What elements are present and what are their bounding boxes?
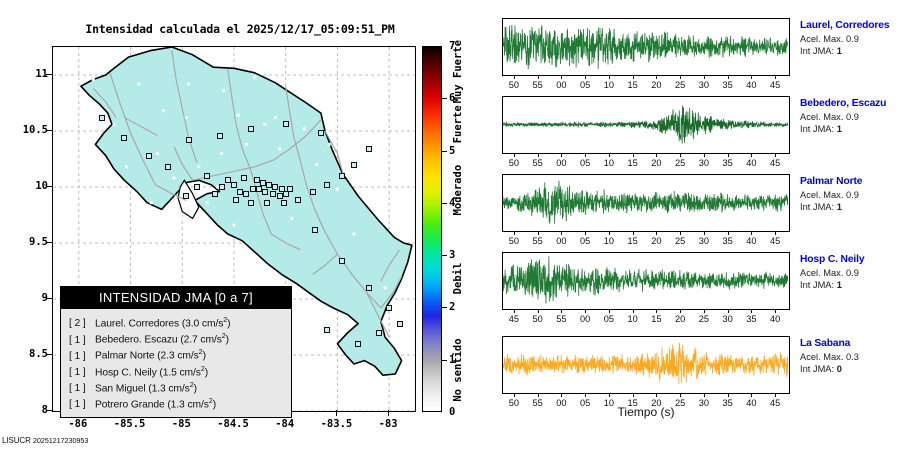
waveform-peak-acceleration: Acel. Max. 0.9: [800, 268, 910, 278]
station-marker[interactable]: [260, 180, 266, 186]
accel-value: 0.9: [846, 190, 859, 200]
station-marker[interactable]: [351, 162, 357, 168]
waveform-axis-tick: [633, 309, 634, 313]
waveform-axis-tick-label: 35: [717, 236, 739, 246]
waveform-axis-tick: [633, 231, 634, 235]
legend-row-station: Potrero Grande: [95, 399, 167, 410]
waveform-axis-tick: [656, 231, 657, 235]
station-marker[interactable]: [146, 153, 152, 159]
waveform-panel[interactable]: [502, 252, 790, 310]
waveform-jma-intensity: Int JMA: 1: [800, 202, 910, 212]
legend-row-station: Laurel. Corredores: [95, 318, 182, 329]
waveform-axis-tick-label: 20: [645, 158, 667, 168]
waveform-axis-tick-label: 40: [740, 80, 762, 90]
waveform-axis-tick: [609, 153, 610, 157]
waveform-axis-tick-label: 10: [598, 80, 620, 90]
waveform-axis-tick: [633, 75, 634, 79]
legend-row-intensity: [ 1 ]: [69, 367, 95, 378]
waveform-axis-tick-label: 55: [527, 80, 549, 90]
map-title: Intensidad calculada el 2025/12/17_05:09…: [60, 22, 420, 36]
jma-value: 1: [837, 124, 842, 134]
waveform-axis-tick: [704, 231, 705, 235]
waveform-axis-tick-label: 35: [717, 80, 739, 90]
waveform-axis-tick-label: 30: [693, 398, 715, 408]
legend-row-accel: (3.0 cm/s: [182, 318, 223, 329]
footer-credit: LISUCR 20251217230953: [2, 436, 88, 445]
station-marker[interactable]: [99, 115, 105, 121]
waveform-axis-tick-label: 45: [764, 80, 786, 90]
waveform-station-info: Palmar NorteAcel. Max. 0.9Int JMA: 1: [800, 176, 910, 212]
waveform-station-name[interactable]: Hosp C. Neily: [800, 254, 910, 265]
map-y-tick-label: 10.5: [2, 124, 48, 136]
waveform-station-name[interactable]: Palmar Norte: [800, 176, 910, 187]
map-y-tick: [46, 298, 52, 299]
station-marker[interactable]: [386, 305, 392, 311]
waveform-axis-tick-label: 05: [574, 398, 596, 408]
jma-label: Int JMA:: [800, 364, 834, 374]
station-marker[interactable]: [237, 189, 243, 195]
waveform-jma-intensity: Int JMA: 1: [800, 280, 910, 290]
accel-value: 0.9: [846, 112, 859, 122]
map-y-tick-label: 9: [2, 292, 48, 304]
waveform-axis-tick: [585, 75, 586, 79]
map-y-tick-label: 8.5: [2, 348, 48, 360]
legend-row-intensity: [ 1 ]: [69, 335, 95, 346]
legend-row: [ 1 ]Palmar Norte (2.3 cm/s2): [61, 346, 291, 362]
station-marker[interactable]: [366, 285, 372, 291]
waveform-axis-tick-label: 55: [527, 158, 549, 168]
waveform-axis-tick: [751, 153, 752, 157]
waveform-axis-tick-label: 35: [717, 398, 739, 408]
waveform-axis-tick: [751, 309, 752, 313]
waveform-axis-tick: [704, 75, 705, 79]
legend-row-intensity: [ 2 ]: [69, 318, 95, 329]
station-marker[interactable]: [186, 137, 192, 143]
waveform-axis-tick: [680, 393, 681, 397]
legend-row: [ 1 ]Potrero Grande (1.3 cm/s2): [61, 395, 291, 411]
waveform-axis-tick: [538, 231, 539, 235]
waveform-station-name[interactable]: La Sabana: [800, 338, 910, 349]
colorbar-tick: [442, 307, 447, 308]
map-y-tick: [46, 354, 52, 355]
waveform-axis-tick: [680, 309, 681, 313]
map-panel: Intensidad calculada el 2025/12/17_05:09…: [0, 0, 470, 460]
colorbar-tick: [442, 98, 447, 99]
station-marker[interactable]: [219, 184, 225, 190]
colorbar-category-label: Debil: [452, 229, 464, 328]
waveform-axis-tick: [656, 309, 657, 313]
station-marker[interactable]: [225, 177, 231, 183]
legend-row: [ 2 ]Laurel. Corredores (3.0 cm/s2): [61, 314, 291, 330]
waveform-axis-tick-label: 00: [550, 236, 572, 246]
waveform-axis-tick: [728, 153, 729, 157]
waveform-axis-tick-label: 25: [669, 80, 691, 90]
legend-title: INTENSIDAD JMA [0 a 7]: [61, 287, 291, 309]
waveform-axis-tick: [538, 75, 539, 79]
colorbar-category-label: Muy Fuerte: [452, 46, 464, 98]
station-marker[interactable]: [281, 200, 287, 206]
waveform-axis-tick-label: 05: [598, 314, 620, 324]
station-marker[interactable]: [283, 121, 289, 127]
waveform-axis-tick-label: 20: [669, 314, 691, 324]
legend-row: [ 1 ]San Miguel (1.3 cm/s2): [61, 379, 291, 395]
waveform-axis-tick: [514, 309, 515, 313]
accel-label: Acel. Max.: [800, 268, 843, 278]
station-marker[interactable]: [272, 184, 278, 190]
waveform-axis-tick-label: 50: [503, 158, 525, 168]
waveform-axis-tick-label: 55: [527, 236, 549, 246]
jma-value: 0: [837, 364, 842, 374]
waveform-axis-tick: [775, 393, 776, 397]
waveform-axis-tick: [680, 153, 681, 157]
waveform-axis-tick: [728, 309, 729, 313]
legend-row-paren: ): [227, 318, 230, 329]
waveform-axis-tick: [538, 309, 539, 313]
waveform-station-info: Bebedero, EscazuAcel. Max. 0.9Int JMA: 1: [800, 98, 910, 134]
legend-row-station: Palmar Norte: [95, 351, 157, 362]
waveform-axis-tick: [561, 231, 562, 235]
waveform-axis-tick: [609, 309, 610, 313]
waveform-jma-intensity: Int JMA: 1: [800, 124, 910, 134]
station-marker[interactable]: [243, 191, 249, 197]
station-marker[interactable]: [231, 182, 237, 188]
accel-value: 0.9: [846, 34, 859, 44]
legend-row: [ 1 ]Bebedero. Escazu (2.7 cm/s2): [61, 330, 291, 346]
waveform-axis-tick: [704, 153, 705, 157]
map-y-tick: [46, 74, 52, 75]
map-y-tick-label: 11: [2, 68, 48, 80]
legend-row-intensity: [ 1 ]: [69, 399, 95, 410]
waveform-station-name[interactable]: Bebedero, Escazu: [800, 98, 910, 109]
waveform-column: Tiempo (s) 505500051015202530354045Laure…: [490, 0, 910, 460]
waveform-axis-tick: [656, 153, 657, 157]
waveform-axis-tick: [609, 393, 610, 397]
legend-row-intensity: [ 1 ]: [69, 383, 95, 394]
waveform-axis-tick-label: 00: [550, 398, 572, 408]
waveform-axis-tick: [728, 231, 729, 235]
waveform-panel[interactable]: [502, 336, 790, 394]
waveform-axis-tick-label: 20: [645, 236, 667, 246]
waveform-axis-tick: [751, 75, 752, 79]
waveform-panel[interactable]: [502, 18, 790, 76]
legend-row-paren: ): [213, 399, 216, 410]
station-marker[interactable]: [339, 173, 345, 179]
station-marker[interactable]: [318, 130, 324, 136]
waveform-axis-tick-label: 20: [645, 80, 667, 90]
waveform-axis-tick-label: 55: [550, 314, 572, 324]
station-marker[interactable]: [165, 164, 171, 170]
waveform-axis-tick-label: 15: [645, 314, 667, 324]
waveform-axis-tick-label: 50: [503, 236, 525, 246]
waveform-axis-tick: [585, 309, 586, 313]
waveform-axis-tick-label: 30: [693, 158, 715, 168]
jma-label: Int JMA:: [800, 124, 834, 134]
legend-row-station: San Miguel: [95, 383, 148, 394]
waveform-axis-tick: [704, 309, 705, 313]
station-marker[interactable]: [248, 200, 254, 206]
waveform-time-axis: 505500051015202530354045: [502, 394, 790, 410]
waveform-axis-tick: [514, 153, 515, 157]
station-marker[interactable]: [339, 258, 345, 264]
colorbar-tick: [442, 151, 447, 152]
waveform-axis-tick-label: 30: [717, 314, 739, 324]
waveform-trace: [503, 337, 788, 392]
station-marker[interactable]: [310, 189, 316, 195]
waveform-axis-tick: [585, 231, 586, 235]
waveform-jma-intensity: Int JMA: 0: [800, 364, 910, 374]
waveform-axis-tick-label: 45: [503, 314, 525, 324]
waveform-axis-tick: [561, 393, 562, 397]
waveform-axis-tick-label: 40: [740, 158, 762, 168]
station-marker[interactable]: [312, 227, 318, 233]
legend-row-paren: ): [194, 383, 197, 394]
map-y-tick: [46, 410, 52, 411]
waveform-axis-tick: [775, 309, 776, 313]
waveform-axis-tick-label: 45: [764, 236, 786, 246]
waveform-axis-tick-label: 40: [764, 314, 786, 324]
waveform-axis-tick: [728, 393, 729, 397]
waveform-peak-acceleration: Acel. Max. 0.9: [800, 112, 910, 122]
waveform-time-axis: 505500051015202530354045: [502, 232, 790, 248]
waveform-axis-tick: [656, 75, 657, 79]
station-marker[interactable]: [287, 186, 293, 192]
accel-value: 0.9: [846, 268, 859, 278]
station-marker[interactable]: [250, 186, 256, 192]
waveform-peak-acceleration: Acel. Max. 0.9: [800, 34, 910, 44]
waveform-axis-tick: [585, 393, 586, 397]
colorbar-category-label: Moderado: [452, 151, 464, 229]
station-marker[interactable]: [217, 133, 223, 139]
waveform-trace: [503, 97, 788, 152]
waveform-axis-tick: [514, 393, 515, 397]
map-x-tick: [388, 410, 389, 416]
legend-row-accel: (1.3 cm/s: [148, 383, 189, 394]
waveform-axis-tick: [751, 393, 752, 397]
colorbar-tick: [442, 360, 447, 361]
waveform-trace: [503, 19, 788, 74]
station-marker[interactable]: [121, 135, 127, 141]
waveform-axis-tick: [656, 393, 657, 397]
accel-label: Acel. Max.: [800, 34, 843, 44]
waveform-axis-tick: [538, 393, 539, 397]
colorbar-tick: [442, 255, 447, 256]
intensity-colorbar: 76543210Muy FuerteFuerteModeradoDebilNo …: [422, 46, 468, 412]
waveform-axis-tick: [585, 153, 586, 157]
station-marker[interactable]: [355, 341, 361, 347]
station-marker[interactable]: [212, 191, 218, 197]
footer-agency: LISUCR: [2, 436, 31, 445]
waveform-axis-tick: [704, 393, 705, 397]
waveform-axis-tick: [609, 75, 610, 79]
map-y-tick-label: 9.5: [2, 236, 48, 248]
waveform-axis-tick-label: 15: [622, 158, 644, 168]
legend-row-accel: (1.5 cm/s: [159, 367, 200, 378]
accel-label: Acel. Max.: [800, 190, 843, 200]
waveform-axis-tick-label: 45: [764, 158, 786, 168]
waveform-axis-tick: [514, 231, 515, 235]
waveform-axis-tick: [561, 309, 562, 313]
station-marker[interactable]: [295, 197, 301, 203]
station-marker[interactable]: [266, 182, 272, 188]
legend-row-accel: (2.3 cm/s: [157, 351, 198, 362]
waveform-axis-tick: [775, 75, 776, 79]
jma-value: 1: [837, 280, 842, 290]
waveform-axis-tick-label: 30: [693, 236, 715, 246]
station-marker[interactable]: [248, 126, 254, 132]
waveform-axis-tick: [751, 231, 752, 235]
legend-row-station: Hosp C. Neily: [95, 367, 159, 378]
map-x-tick: [336, 410, 337, 416]
waveform-axis-tick-label: 10: [598, 398, 620, 408]
waveform-axis-tick: [775, 153, 776, 157]
waveform-jma-intensity: Int JMA: 1: [800, 46, 910, 56]
jma-label: Int JMA:: [800, 280, 834, 290]
legend-row-paren: ): [205, 367, 208, 378]
station-marker[interactable]: [277, 193, 283, 199]
waveform-axis-tick-label: 05: [574, 80, 596, 90]
waveform-trace: [503, 175, 788, 230]
waveform-peak-acceleration: Acel. Max. 0.3: [800, 352, 910, 362]
waveform-axis-tick-label: 50: [503, 80, 525, 90]
station-marker[interactable]: [262, 189, 268, 195]
footer-code: 20251217230953: [33, 436, 88, 445]
waveform-axis-tick-label: 55: [527, 398, 549, 408]
waveform-axis-tick-label: 35: [717, 158, 739, 168]
waveform-axis-tick-label: 10: [598, 158, 620, 168]
waveform-station-name[interactable]: Laurel, Corredores: [800, 20, 910, 31]
station-marker[interactable]: [264, 200, 270, 206]
waveform-station-info: Hosp C. NeilyAcel. Max. 0.9Int JMA: 1: [800, 254, 910, 290]
waveform-axis-tick-label: 25: [669, 398, 691, 408]
waveform-axis-tick: [633, 393, 634, 397]
waveform-axis-tick-label: 00: [550, 158, 572, 168]
station-marker[interactable]: [194, 184, 200, 190]
map-y-tick: [46, 242, 52, 243]
waveform-axis-tick-label: 50: [503, 398, 525, 408]
legend-row-paren: ): [226, 335, 229, 346]
waveform-axis-tick-label: 40: [740, 236, 762, 246]
station-marker[interactable]: [241, 175, 247, 181]
waveform-time-axis: 505500051015202530354045: [502, 76, 790, 92]
legend-list: [ 2 ]Laurel. Corredores (3.0 cm/s2)[ 1 ]…: [61, 309, 291, 417]
intensity-legend: INTENSIDAD JMA [0 a 7] [ 2 ]Laurel. Corr…: [60, 286, 292, 418]
waveform-axis-tick: [561, 153, 562, 157]
waveform-axis-tick-label: 10: [598, 236, 620, 246]
waveform-axis-tick: [538, 153, 539, 157]
waveform-axis-tick-label: 45: [764, 398, 786, 408]
waveform-peak-acceleration: Acel. Max. 0.9: [800, 190, 910, 200]
station-marker[interactable]: [270, 191, 276, 197]
station-marker[interactable]: [376, 330, 382, 336]
waveform-axis-tick-label: 20: [645, 398, 667, 408]
waveform-axis-tick-label: 35: [740, 314, 762, 324]
jma-label: Int JMA:: [800, 202, 834, 212]
waveform-axis-tick-label: 30: [693, 80, 715, 90]
waveform-axis-tick-label: 05: [574, 158, 596, 168]
station-marker[interactable]: [324, 327, 330, 333]
colorbar-category-label: Fuerte: [452, 98, 464, 150]
waveform-time-axis: 455055000510152025303540: [502, 310, 790, 326]
waveform-axis-tick-label: 40: [740, 398, 762, 408]
waveform-axis-tick: [775, 231, 776, 235]
waveform-axis-tick-label: 10: [622, 314, 644, 324]
waveform-axis-tick: [609, 231, 610, 235]
legend-row-intensity: [ 1 ]: [69, 351, 95, 362]
map-y-tick: [46, 130, 52, 131]
colorbar-category-label: No sentido: [452, 328, 464, 412]
legend-row-accel: (1.3 cm/s: [167, 399, 208, 410]
legend-row-paren: ): [203, 351, 206, 362]
waveform-axis-tick-label: 15: [622, 398, 644, 408]
jma-label: Int JMA:: [800, 46, 834, 56]
accel-label: Acel. Max.: [800, 112, 843, 122]
jma-value: 1: [837, 202, 842, 212]
waveform-axis-tick-label: 50: [527, 314, 549, 324]
waveform-axis-tick-label: 15: [622, 80, 644, 90]
legend-row: [ 1 ]Hosp C. Neily (1.5 cm/s2): [61, 363, 291, 379]
waveform-axis-tick: [680, 231, 681, 235]
waveform-axis-tick: [633, 153, 634, 157]
station-marker[interactable]: [256, 186, 262, 192]
waveform-axis-tick: [680, 75, 681, 79]
colorbar-gradient: [422, 46, 442, 412]
legend-row-accel: (2.7 cm/s: [180, 335, 221, 346]
accel-label: Acel. Max.: [800, 352, 843, 362]
jma-value: 1: [837, 46, 842, 56]
waveform-axis-tick: [514, 75, 515, 79]
station-marker[interactable]: [397, 321, 403, 327]
waveform-axis-tick-label: 25: [669, 236, 691, 246]
waveform-axis-tick-label: 05: [574, 236, 596, 246]
waveform-axis-tick: [728, 75, 729, 79]
station-marker[interactable]: [324, 182, 330, 188]
waveform-station-info: Laurel, CorredoresAcel. Max. 0.9Int JMA:…: [800, 20, 910, 56]
colorbar-tick: [442, 203, 447, 204]
waveform-axis-tick-label: 15: [622, 236, 644, 246]
waveform-axis-tick-label: 00: [574, 314, 596, 324]
waveform-panel[interactable]: [502, 174, 790, 232]
accel-value: 0.3: [846, 352, 859, 362]
waveform-axis-tick: [561, 75, 562, 79]
waveform-time-axis: 505500051015202530354045: [502, 154, 790, 170]
waveform-axis-tick-label: 25: [669, 158, 691, 168]
waveform-panel[interactable]: [502, 96, 790, 154]
waveform-trace: [503, 253, 788, 308]
map-y-tick-label: 8: [2, 404, 48, 416]
station-marker[interactable]: [254, 177, 260, 183]
station-marker[interactable]: [233, 197, 239, 203]
waveform-station-info: La SabanaAcel. Max. 0.3Int JMA: 0: [800, 338, 910, 374]
legend-row-station: Bebedero. Escazu: [95, 335, 180, 346]
waveform-axis-tick-label: 25: [693, 314, 715, 324]
station-marker[interactable]: [183, 193, 189, 199]
station-marker[interactable]: [204, 173, 210, 179]
map-y-tick-label: 10: [2, 180, 48, 192]
map-y-tick: [46, 186, 52, 187]
station-marker[interactable]: [366, 146, 372, 152]
waveform-axis-tick-label: 00: [550, 80, 572, 90]
map-x-tick-label: -83: [358, 418, 418, 430]
